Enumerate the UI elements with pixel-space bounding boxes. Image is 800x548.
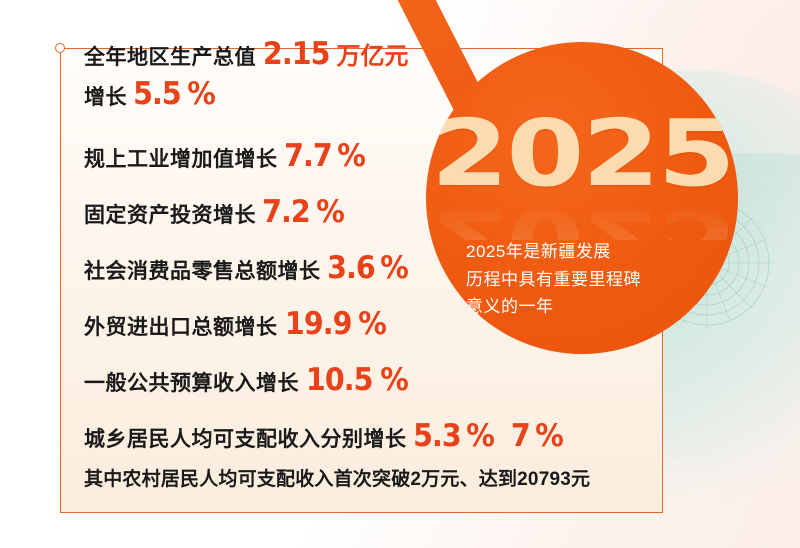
stat-value: 19.9 [284, 306, 351, 342]
stat-row-budget-revenue: 一般公共预算收入增长10.5% [84, 362, 410, 398]
stat-label: 外贸进出口总额增长 [84, 316, 278, 339]
stat-value-urban: 5.3 [413, 418, 461, 454]
stat-value: 2.15 [263, 36, 330, 72]
badge-caption-line-2: 历程中具有重要里程碑 [466, 266, 710, 294]
stat-label: 城乡居民人均可支配收入分别增长 [84, 428, 407, 451]
stat-unit: % [316, 194, 344, 230]
stat-value: 7.2 [262, 194, 310, 230]
footnote-text: 其中农村居民人均可支配收入首次突破2万元、达到20793元 [84, 469, 590, 490]
stat-row-gdp: 全年地区生产总值2.15万亿元 [84, 36, 409, 72]
year-number-reflection: 2025 [431, 194, 734, 240]
stat-footnote: 其中农村居民人均可支配收入首次突破2万元、达到20793元 [84, 464, 590, 491]
stat-unit: % [381, 250, 409, 286]
stat-value: 5.5 [133, 76, 181, 112]
year-reflection: 2025 [426, 194, 738, 240]
stat-row-retail: 社会消费品零售总额增长3.6% [84, 250, 410, 286]
stat-label: 社会消费品零售总额增长 [84, 260, 321, 283]
stat-unit-urban: % [467, 418, 495, 454]
stat-label: 规上工业增加值增长 [84, 148, 278, 171]
stat-row-gdp-growth: 增长5.5% [84, 76, 217, 112]
stat-unit: % [358, 306, 386, 342]
badge-caption: 2025年是新疆发展 历程中具有重要里程碑 意义的一年 [466, 238, 710, 321]
stat-unit-rural: % [535, 418, 563, 454]
stat-unit: % [187, 76, 215, 112]
stat-value: 7.7 [284, 138, 332, 174]
stat-label: 固定资产投资增长 [84, 204, 256, 227]
stat-label: 全年地区生产总值 [84, 46, 256, 69]
year-number: 2025 [431, 108, 734, 200]
stat-value-rural: 7 [511, 418, 530, 454]
stat-row-disposable-income: 城乡居民人均可支配收入分别增长5.3%7% [84, 418, 565, 454]
stat-label: 一般公共预算收入增长 [84, 372, 299, 395]
stat-row-industrial: 规上工业增加值增长7.7% [84, 138, 367, 174]
stat-unit: % [380, 362, 408, 398]
year-display: 2025 [426, 108, 738, 200]
stat-row-fixed-asset: 固定资产投资增长7.2% [84, 194, 346, 230]
stat-label: 增长 [84, 86, 127, 109]
year-badge-circle: 2025 2025 2025年是新疆发展 历程中具有重要里程碑 意义的一年 [426, 42, 738, 354]
stat-value: 3.6 [327, 250, 375, 286]
circle-pin-icon [55, 43, 65, 53]
stat-unit: % [338, 138, 366, 174]
infographic-poster: 2025 2025 2025年是新疆发展 历程中具有重要里程碑 意义的一年 全年… [0, 0, 800, 548]
badge-caption-line-3: 意义的一年 [466, 293, 710, 321]
stat-value: 10.5 [306, 362, 373, 398]
stat-row-trade: 外贸进出口总额增长19.9% [84, 306, 388, 342]
badge-caption-line-1: 2025年是新疆发展 [466, 238, 710, 266]
stat-unit: 万亿元 [337, 43, 409, 70]
